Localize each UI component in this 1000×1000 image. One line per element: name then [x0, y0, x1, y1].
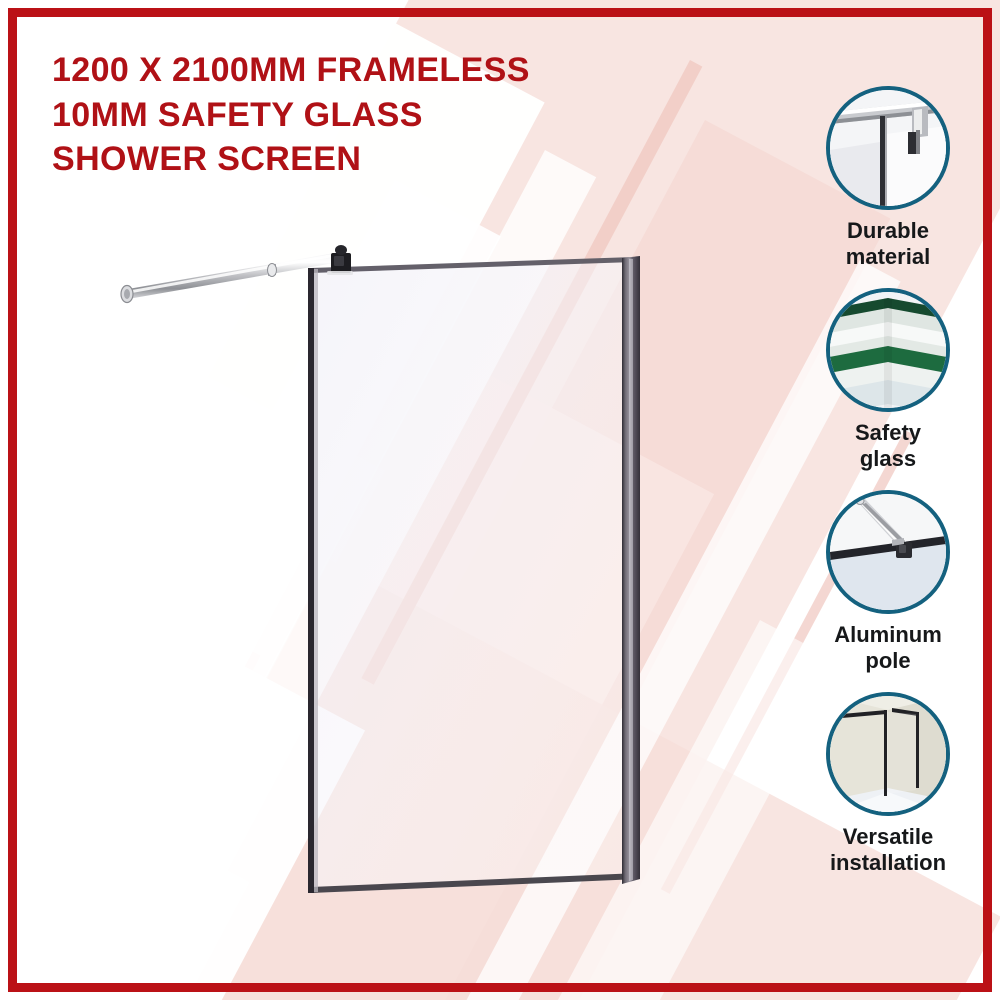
glass-top-bracket-icon [826, 86, 950, 210]
product-title-line-1: 1200 x 2100MM FRAMELESS [52, 48, 652, 93]
feature-badge-list: Durable material [798, 86, 978, 894]
feature-label-line-1: Versatile [798, 824, 978, 850]
feature-badge-durable-material: Durable material [798, 86, 978, 270]
product-title: 1200 x 2100MM FRAMELESS 10MM SAFETY GLAS… [52, 48, 652, 182]
feature-label-line-2: material [798, 244, 978, 270]
aluminum-support-pole-icon [826, 490, 950, 614]
laminated-glass-layers-icon [826, 288, 950, 412]
feature-label-line-1: Safety [798, 420, 978, 446]
product-image-card: 1200 x 2100MM FRAMELESS 10MM SAFETY GLAS… [0, 0, 1000, 1000]
feature-badge-versatile-installation: Versatile installation [798, 692, 978, 876]
feature-label: Aluminum pole [798, 622, 978, 674]
feature-label: Durable material [798, 218, 978, 270]
feature-label-line-1: Durable [798, 218, 978, 244]
feature-label-line-2: glass [798, 446, 978, 472]
product-title-line-3: SHOWER SCREEN [52, 137, 652, 182]
feature-label-line-2: pole [798, 648, 978, 674]
feature-label: Versatile installation [798, 824, 978, 876]
feature-badge-safety-glass: Safety glass [798, 288, 978, 472]
shower-enclosure-icon [826, 692, 950, 816]
feature-label-line-2: installation [798, 850, 978, 876]
feature-label: Safety glass [798, 420, 978, 472]
product-title-line-2: 10MM SAFETY GLASS [52, 93, 652, 138]
feature-label-line-1: Aluminum [798, 622, 978, 648]
feature-badge-aluminum-pole: Aluminum pole [798, 490, 978, 674]
